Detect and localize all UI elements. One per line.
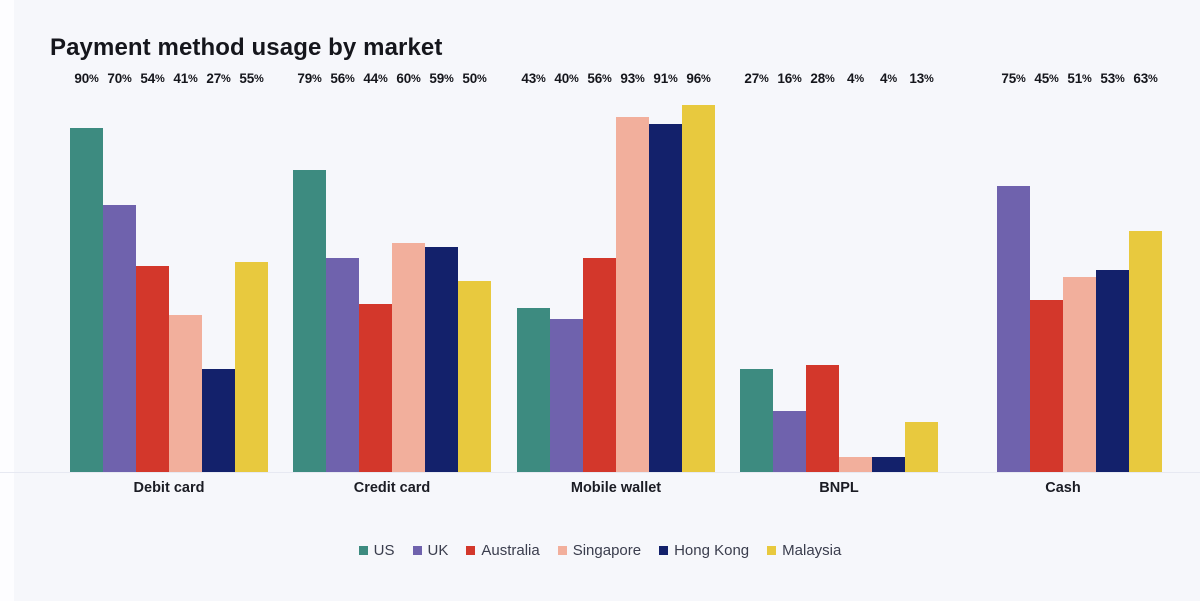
bar-rect[interactable]: 51%: [1063, 277, 1096, 472]
legend-label: Australia: [481, 542, 539, 559]
legend-swatch-icon: [359, 546, 368, 555]
bar-australia[interactable]: 56%: [583, 90, 616, 472]
bar-malaysia[interactable]: 55%: [235, 90, 268, 472]
legend-item-malaysia[interactable]: Malaysia: [767, 542, 841, 559]
bar-value-label: 93%: [620, 71, 644, 86]
legend-swatch-icon: [413, 546, 422, 555]
bar-us[interactable]: 90%: [70, 90, 103, 472]
bar-group-bnpl: 27%16%28%4%4%13%: [740, 90, 938, 472]
bar-hong-kong[interactable]: 53%: [1096, 90, 1129, 472]
bar-rect[interactable]: 50%: [458, 281, 491, 472]
bar-rect[interactable]: 27%: [740, 369, 773, 472]
bar-value-label: 96%: [686, 71, 710, 86]
bar-rect[interactable]: 55%: [235, 262, 268, 472]
bar-rect[interactable]: 96%: [682, 105, 715, 472]
category-label-debit-card: Debit card: [134, 480, 205, 496]
bar-singapore[interactable]: 41%: [169, 90, 202, 472]
bar-rect[interactable]: 60%: [392, 243, 425, 472]
bar-us[interactable]: 43%: [517, 90, 550, 472]
legend-item-us[interactable]: US: [359, 542, 395, 559]
plot-area: 90%70%54%41%27%55%79%56%44%60%59%50%43%4…: [0, 90, 1200, 472]
bar-rect[interactable]: 75%: [997, 186, 1030, 473]
legend-label: Hong Kong: [674, 542, 749, 559]
bar-value-label: 28%: [810, 71, 834, 86]
bar-uk[interactable]: 40%: [550, 90, 583, 472]
bar-rect[interactable]: 59%: [425, 247, 458, 472]
bar-value-label: 27%: [206, 71, 230, 86]
bar-value-label: 41%: [173, 71, 197, 86]
bar-value-label: 59%: [429, 71, 453, 86]
bar-rect[interactable]: 43%: [517, 308, 550, 472]
legend-item-singapore[interactable]: Singapore: [558, 542, 641, 559]
category-label-mobile-wallet: Mobile wallet: [571, 480, 661, 496]
legend-swatch-icon: [558, 546, 567, 555]
bar-rect[interactable]: 90%: [70, 128, 103, 472]
bar-rect[interactable]: 45%: [1030, 300, 1063, 472]
bar-value-label: 50%: [462, 71, 486, 86]
bar-value-label: 43%: [521, 71, 545, 86]
bar-malaysia[interactable]: 50%: [458, 90, 491, 472]
bar-hong-kong[interactable]: 59%: [425, 90, 458, 472]
bar-rect[interactable]: 63%: [1129, 231, 1162, 472]
category-label-credit-card: Credit card: [354, 480, 431, 496]
bar-value-label: 90%: [74, 71, 98, 86]
axis-baseline: [0, 472, 1200, 473]
bar-group-mobile-wallet: 43%40%56%93%91%96%: [517, 90, 715, 472]
bar-hong-kong[interactable]: 27%: [202, 90, 235, 472]
bar-group-cash: 75%45%51%53%63%: [964, 90, 1162, 472]
bar-value-label: 53%: [1100, 71, 1124, 86]
bar-singapore[interactable]: 60%: [392, 90, 425, 472]
bar-malaysia[interactable]: 63%: [1129, 90, 1162, 472]
bar-rect[interactable]: 54%: [136, 266, 169, 472]
legend-label: Malaysia: [782, 542, 841, 559]
bar-value-label: 51%: [1067, 71, 1091, 86]
category-label-bnpl: BNPL: [819, 480, 858, 496]
bar-uk[interactable]: 75%: [997, 90, 1030, 472]
legend-item-hong-kong[interactable]: Hong Kong: [659, 542, 749, 559]
chart-legend: USUKAustraliaSingaporeHong KongMalaysia: [0, 542, 1200, 559]
bar-malaysia[interactable]: 96%: [682, 90, 715, 472]
bar-australia[interactable]: 44%: [359, 90, 392, 472]
bar-uk[interactable]: 70%: [103, 90, 136, 472]
bar-rect[interactable]: 56%: [326, 258, 359, 472]
legend-swatch-icon: [659, 546, 668, 555]
bar-us[interactable]: [964, 90, 997, 472]
bar-rect[interactable]: 13%: [905, 422, 938, 472]
bar-australia[interactable]: 54%: [136, 90, 169, 472]
bar-value-label: 40%: [554, 71, 578, 86]
bar-rect[interactable]: 91%: [649, 124, 682, 472]
bar-rect[interactable]: 44%: [359, 304, 392, 472]
bar-value-label: 44%: [363, 71, 387, 86]
bar-value-label: 79%: [297, 71, 321, 86]
bar-singapore[interactable]: 93%: [616, 90, 649, 472]
bar-value-label: 55%: [239, 71, 263, 86]
bar-rect[interactable]: 27%: [202, 369, 235, 472]
bar-rect[interactable]: 70%: [103, 205, 136, 472]
category-label-cash: Cash: [1045, 480, 1080, 496]
bar-malaysia[interactable]: 13%: [905, 90, 938, 472]
legend-swatch-icon: [466, 546, 475, 555]
bar-value-label: 45%: [1034, 71, 1058, 86]
bar-value-label: 27%: [744, 71, 768, 86]
legend-label: Singapore: [573, 542, 641, 559]
bar-singapore[interactable]: 4%: [839, 90, 872, 472]
bar-singapore[interactable]: 51%: [1063, 90, 1096, 472]
bar-value-label: 13%: [909, 71, 933, 86]
bar-value-label: 16%: [777, 71, 801, 86]
bar-rect[interactable]: 4%: [839, 457, 872, 472]
legend-swatch-icon: [767, 546, 776, 555]
bar-value-label: 4%: [847, 71, 864, 86]
bar-us[interactable]: 79%: [293, 90, 326, 472]
bar-group-credit-card: 79%56%44%60%59%50%: [293, 90, 491, 472]
legend-label: UK: [428, 542, 449, 559]
bar-group-debit-card: 90%70%54%41%27%55%: [70, 90, 268, 472]
bar-uk[interactable]: 16%: [773, 90, 806, 472]
bar-rect[interactable]: 79%: [293, 170, 326, 472]
bar-rect[interactable]: 28%: [806, 365, 839, 472]
bar-hong-kong[interactable]: 4%: [872, 90, 905, 472]
bar-value-label: 60%: [396, 71, 420, 86]
bar-australia[interactable]: 28%: [806, 90, 839, 472]
bar-rect[interactable]: 56%: [583, 258, 616, 472]
chart-title: Payment method usage by market: [50, 34, 442, 62]
bar-value-label: 70%: [107, 71, 131, 86]
bar-rect[interactable]: 53%: [1096, 270, 1129, 472]
bar-value-label: 56%: [330, 71, 354, 86]
legend-label: US: [374, 542, 395, 559]
bar-rect[interactable]: 16%: [773, 411, 806, 472]
bar-rect[interactable]: 40%: [550, 319, 583, 472]
bar-value-label: 63%: [1133, 71, 1157, 86]
legend-item-uk[interactable]: UK: [413, 542, 449, 559]
bar-rect[interactable]: 41%: [169, 315, 202, 472]
bar-australia[interactable]: 45%: [1030, 90, 1063, 472]
bar-uk[interactable]: 56%: [326, 90, 359, 472]
bar-value-label: 75%: [1001, 71, 1025, 86]
bar-rect[interactable]: 4%: [872, 457, 905, 472]
bar-us[interactable]: 27%: [740, 90, 773, 472]
bar-value-label: 54%: [140, 71, 164, 86]
bar-value-label: 56%: [587, 71, 611, 86]
bar-hong-kong[interactable]: 91%: [649, 90, 682, 472]
bar-rect[interactable]: 93%: [616, 117, 649, 472]
legend-item-australia[interactable]: Australia: [466, 542, 539, 559]
bar-value-label: 91%: [653, 71, 677, 86]
chart-card: Payment method usage by market 90%70%54%…: [0, 0, 1200, 601]
bar-value-label: 4%: [880, 71, 897, 86]
